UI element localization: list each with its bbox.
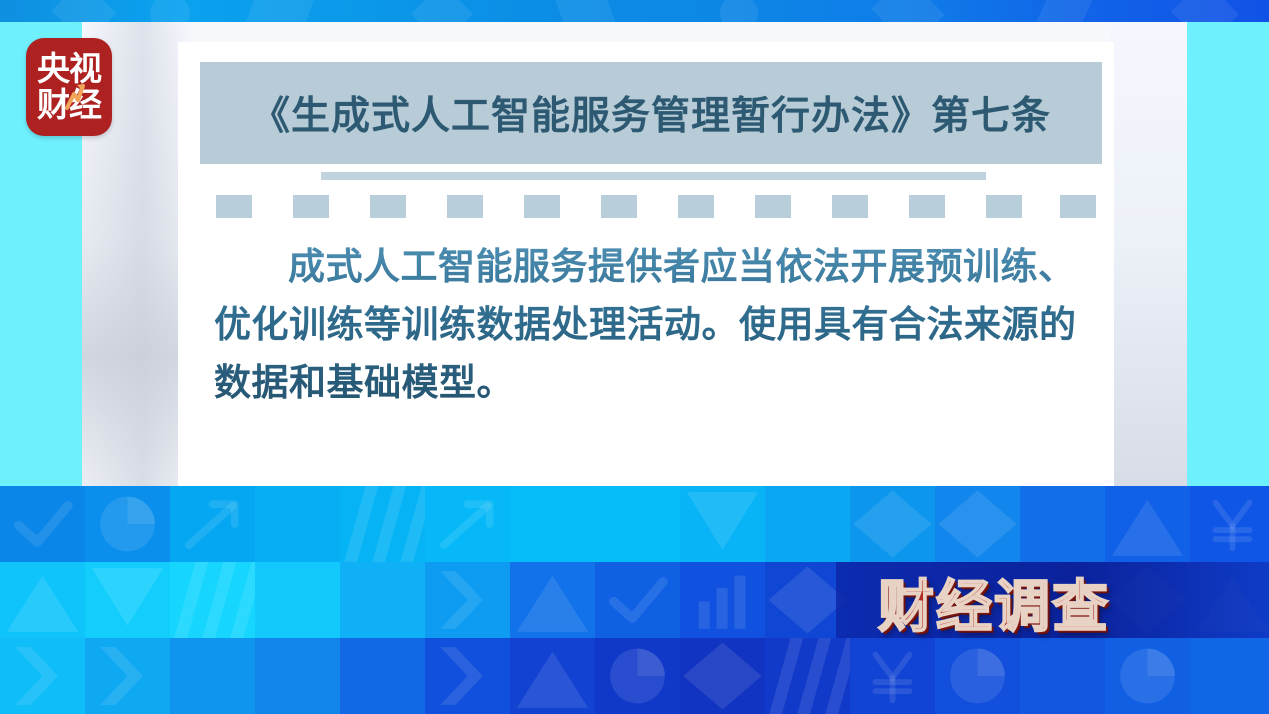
mosaic-tile (1190, 486, 1269, 562)
check-icon (0, 486, 85, 562)
content-card: 《生成式人工智能服务管理暂行办法》第七条 成式人工智能服务提供者应当依法开展预训… (178, 42, 1114, 486)
broadcast-frame: 《生成式人工智能服务管理暂行办法》第七条 成式人工智能服务提供者应当依法开展预训… (0, 0, 1269, 714)
mosaic-tile (425, 562, 510, 638)
mosaic-tile (1020, 486, 1105, 562)
yen-icon (850, 638, 935, 714)
mosaic-tile (340, 638, 425, 714)
mosaic-tile (765, 638, 850, 714)
logo-line-1: 央视 (26, 52, 112, 85)
rising-arrow-icon (64, 82, 86, 112)
stripes-icon (170, 562, 255, 638)
mosaic-tile (0, 638, 85, 714)
stripes-icon (340, 486, 425, 562)
mosaic-tile (680, 562, 765, 638)
mosaic-tile (340, 562, 425, 638)
mosaic-tile (510, 486, 595, 562)
mosaic-tile (850, 638, 935, 714)
triangle-up-icon (510, 638, 595, 714)
chevron-icon (425, 562, 510, 638)
yen-icon (1190, 486, 1269, 562)
pie-icon (935, 638, 1020, 714)
diamond-icon (680, 638, 765, 714)
mosaic-tile (85, 486, 170, 562)
triangle-up-icon (0, 562, 85, 638)
regulation-body-text: 成式人工智能服务提供者应当依法开展预训练、优化训练等训练数据处理活动。使用具有合… (214, 238, 1094, 412)
title-divider (321, 172, 986, 180)
mosaic-tile (510, 562, 595, 638)
mosaic-tile (0, 486, 85, 562)
mosaic-tile (255, 562, 340, 638)
mosaic-tile (595, 486, 680, 562)
mosaic-tile (595, 638, 680, 714)
mosaic-tile (85, 562, 170, 638)
pie-icon (1105, 638, 1190, 714)
program-title: 财经调查 (878, 562, 1110, 643)
diamond-icon (850, 486, 935, 562)
mosaic-tile (935, 486, 1020, 562)
arrow-icon (425, 486, 510, 562)
chevron-icon (85, 638, 170, 714)
right-cyan-band (1187, 22, 1269, 486)
mosaic-tile (595, 562, 680, 638)
mosaic-tile (1190, 638, 1269, 714)
mosaic-tile (255, 486, 340, 562)
mosaic-tile (1020, 638, 1105, 714)
mosaic-tile (510, 638, 595, 714)
mosaic-tile (680, 638, 765, 714)
mosaic-tile (85, 638, 170, 714)
triangle-down-icon (680, 486, 765, 562)
mosaic-tile (425, 638, 510, 714)
check-icon (595, 562, 680, 638)
regulation-title-banner: 《生成式人工智能服务管理暂行办法》第七条 (200, 62, 1102, 164)
cctv-finance-logo-icon: 央视 财经 (26, 38, 112, 136)
top-accent-strip (0, 0, 1269, 22)
mosaic-tile (340, 486, 425, 562)
right-gradient-band (1110, 22, 1187, 486)
mosaic-tile (1105, 638, 1190, 714)
mosaic-tile (170, 638, 255, 714)
mosaic-tile (680, 486, 765, 562)
chevron-icon (425, 638, 510, 714)
mosaic-tile (765, 486, 850, 562)
mosaic-tile (170, 486, 255, 562)
mosaic-tile (1105, 486, 1190, 562)
triangle-down-icon (85, 562, 170, 638)
mosaic-tile (850, 486, 935, 562)
mosaic-tile (425, 486, 510, 562)
bars-icon (680, 562, 765, 638)
mosaic-tile (0, 562, 85, 638)
mosaic-tile (170, 562, 255, 638)
triangle-up-icon (1105, 486, 1190, 562)
diamond-icon (935, 486, 1020, 562)
dash-decoration-row (216, 195, 1096, 219)
regulation-title: 《生成式人工智能服务管理暂行办法》第七条 (251, 85, 1051, 141)
arrow-icon (170, 486, 255, 562)
pie-icon (85, 486, 170, 562)
pie-icon (595, 638, 680, 714)
chevron-icon (0, 638, 85, 714)
mosaic-tile (935, 638, 1020, 714)
stripes-icon (765, 638, 850, 714)
mosaic-tile (255, 638, 340, 714)
triangle-up-icon (510, 562, 595, 638)
